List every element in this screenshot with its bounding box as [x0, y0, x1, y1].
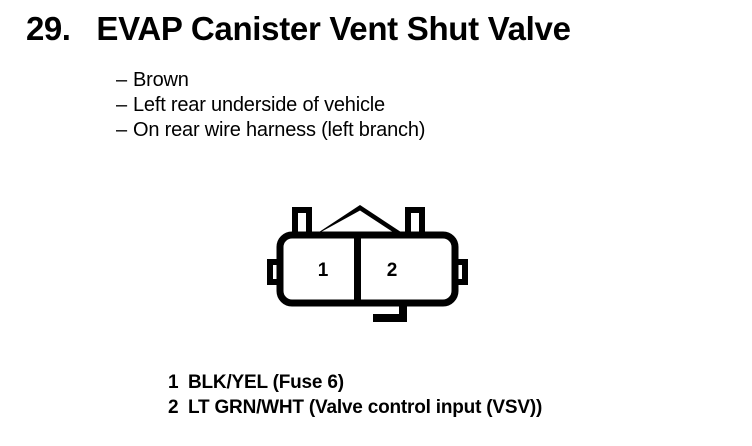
heading-text: EVAP Canister Vent Shut Valve: [96, 12, 570, 45]
page-root: 29. EVAP Canister Vent Shut Valve – Brow…: [0, 0, 752, 446]
dash-icon: –: [116, 118, 133, 143]
list-item-label: On rear wire harness (left branch): [133, 118, 425, 143]
dash-icon: –: [116, 68, 133, 93]
connector-diagram: 1 2: [255, 193, 480, 333]
legend-pin-description: BLK/YEL (Fuse 6): [188, 370, 344, 395]
legend-row: 2 LT GRN/WHT (Valve control input (VSV)): [168, 395, 728, 420]
legend-pin-number: 2: [168, 395, 188, 420]
list-item-label: Brown: [133, 68, 189, 93]
list-item-label: Left rear underside of vehicle: [133, 93, 385, 118]
connector-outline-svg: 1 2: [255, 193, 480, 333]
page-title: 29. EVAP Canister Vent Shut Valve: [26, 12, 571, 45]
cavity-number-1: 1: [318, 260, 329, 281]
cavity-divider: [354, 235, 361, 303]
legend-row: 1 BLK/YEL (Fuse 6): [168, 370, 728, 395]
heading-item-number: 29.: [26, 12, 70, 45]
list-item: – Left rear underside of vehicle: [116, 93, 676, 118]
dash-icon: –: [116, 93, 133, 118]
cavity-number-2: 2: [387, 260, 398, 281]
detail-list: – Brown – Left rear underside of vehicle…: [116, 68, 676, 143]
legend-pin-description: LT GRN/WHT (Valve control input (VSV)): [188, 395, 542, 420]
list-item: – On rear wire harness (left branch): [116, 118, 676, 143]
list-item: – Brown: [116, 68, 676, 93]
pin-legend: 1 BLK/YEL (Fuse 6) 2 LT GRN/WHT (Valve c…: [168, 370, 728, 420]
legend-pin-number: 1: [168, 370, 188, 395]
connector-body-shape: [280, 235, 455, 303]
